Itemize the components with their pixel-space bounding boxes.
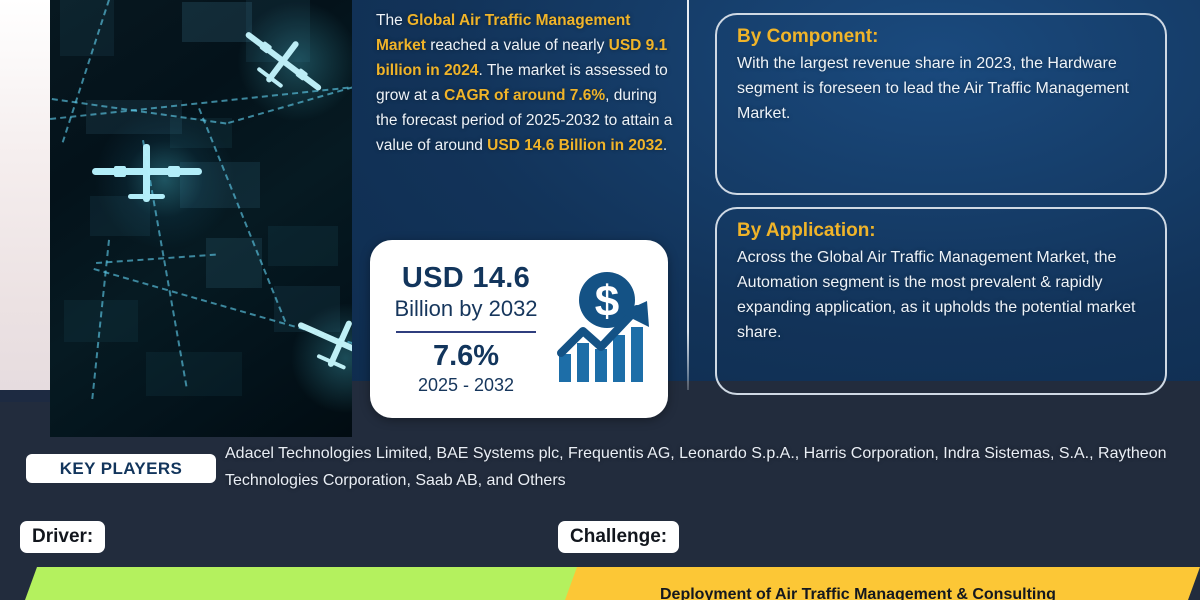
driver-label: Driver:: [20, 521, 105, 553]
air-traffic-radar-image: [50, 0, 352, 437]
market-summary-paragraph: The Global Air Traffic Management Market…: [376, 8, 676, 158]
forecast-value: USD 14.6: [384, 262, 548, 295]
key-players-label: KEY PLAYERS: [26, 454, 216, 483]
by-application-card: By Application: Across the Global Air Tr…: [715, 207, 1167, 395]
svg-text:$: $: [595, 277, 619, 326]
cagr-value: 7.6%: [384, 340, 548, 373]
challenge-label: Challenge:: [558, 521, 679, 553]
vertical-divider: [687, 0, 689, 390]
forecast-label: Billion by 2032: [384, 296, 548, 322]
left-white-strip: [0, 0, 50, 390]
market-value-badge-text: USD 14.6 Billion by 2032 7.6% 2025 - 203…: [370, 262, 548, 396]
by-application-body: Across the Global Air Traffic Management…: [737, 245, 1147, 345]
map-tile: [146, 352, 242, 396]
key-players-list: Adacel Technologies Limited, BAE Systems…: [225, 440, 1185, 494]
by-component-title: By Component:: [737, 26, 1147, 48]
challenge-banner-text: Deployment of Air Traffic Management & C…: [660, 586, 1180, 600]
flight-path-dashed-line: [96, 254, 216, 264]
by-application-title: By Application:: [737, 220, 1147, 242]
flight-path-dashed-line: [198, 108, 286, 322]
market-value-badge: USD 14.6 Billion by 2032 7.6% 2025 - 203…: [370, 240, 668, 418]
by-component-card: By Component: With the largest revenue s…: [715, 13, 1167, 195]
airplane-icon: [88, 140, 208, 210]
dollar-growth-chart-icon: $: [548, 269, 666, 389]
cagr-period: 2025 - 2032: [384, 375, 548, 396]
map-tile: [268, 226, 338, 266]
by-component-body: With the largest revenue share in 2023, …: [737, 51, 1147, 126]
left-strip-foot: [0, 390, 50, 402]
badge-divider: [396, 331, 536, 333]
